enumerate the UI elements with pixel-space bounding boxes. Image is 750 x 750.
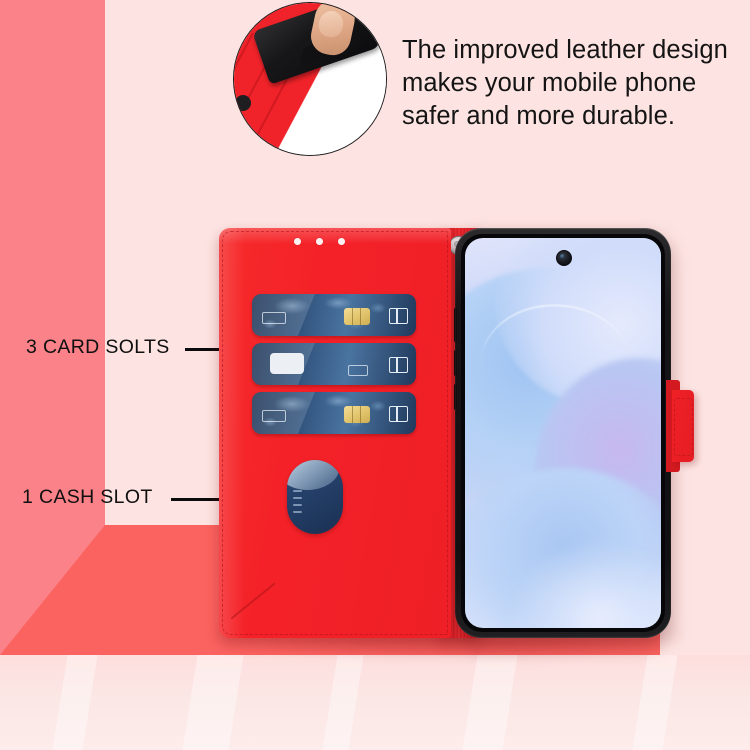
case-rivet	[316, 238, 323, 245]
inset-camera-dot	[235, 95, 251, 111]
card-hologram-icon	[389, 357, 408, 373]
product-image-canvas: The improved leather design makes your m…	[0, 0, 750, 750]
card-slot-1[interactable]	[252, 294, 416, 336]
card-strip	[348, 365, 368, 376]
headline-text: The improved leather design makes your m…	[402, 34, 738, 133]
magnetic-closure-flap[interactable]	[672, 390, 694, 462]
cash-slot-pocket[interactable]	[287, 460, 343, 534]
case-rivet	[294, 238, 301, 245]
cash-slot-ridge	[293, 490, 302, 492]
cash-slot-ridge	[293, 504, 302, 506]
case-rivet	[338, 238, 345, 245]
callout-label-card-slots: 3 CARD SOLTS	[26, 336, 170, 359]
card-gloss	[252, 343, 316, 385]
wallet-leather-panel	[219, 228, 451, 638]
cash-slot-ridge	[293, 511, 302, 513]
card-chip-icon	[344, 406, 370, 423]
phone-rim-highlight	[455, 228, 671, 638]
phone-device	[455, 228, 671, 638]
cash-slot-ridge	[293, 497, 302, 499]
callout-label-cash-slot: 1 CASH SLOT	[22, 486, 153, 509]
cash-slot-sheen	[287, 460, 341, 494]
closure-flap-stitching	[674, 398, 693, 456]
leather-flex-detail-circle	[233, 2, 387, 156]
card-hologram-icon	[389, 406, 408, 422]
card-chip-icon	[344, 308, 370, 325]
card-hologram-icon	[389, 308, 408, 324]
card-slot-2[interactable]	[252, 343, 416, 385]
card-slot-3[interactable]	[252, 392, 416, 434]
